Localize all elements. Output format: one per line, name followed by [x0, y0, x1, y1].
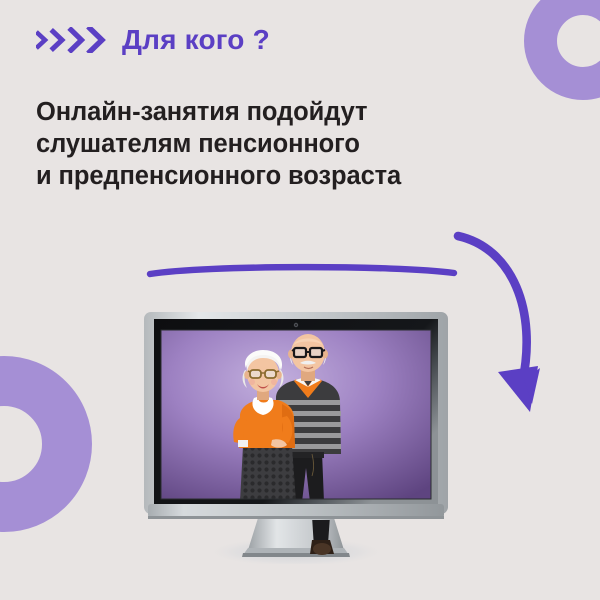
monitor-stand	[242, 518, 350, 557]
page-eyebrow-title: Для кого ?	[122, 26, 270, 54]
chevrons-right-icon	[36, 27, 108, 53]
screen-content	[161, 330, 431, 502]
poster-canvas: Для кого ? Онлайн-занятия подойдут слуша…	[0, 0, 600, 600]
desktop-monitor-illustration	[144, 312, 448, 564]
monitor-chin	[148, 504, 444, 518]
curved-underline-stroke	[146, 262, 458, 282]
page-headline: Онлайн-занятия подойдут слушателям пенси…	[36, 96, 496, 192]
donut-ring-left	[0, 356, 92, 532]
webcam-lens	[295, 324, 297, 326]
header: Для кого ?	[36, 18, 270, 62]
donut-ring-top-right	[524, 0, 600, 100]
monitor-chin-shadow	[148, 516, 444, 519]
curved-down-arrow-icon	[440, 214, 564, 430]
